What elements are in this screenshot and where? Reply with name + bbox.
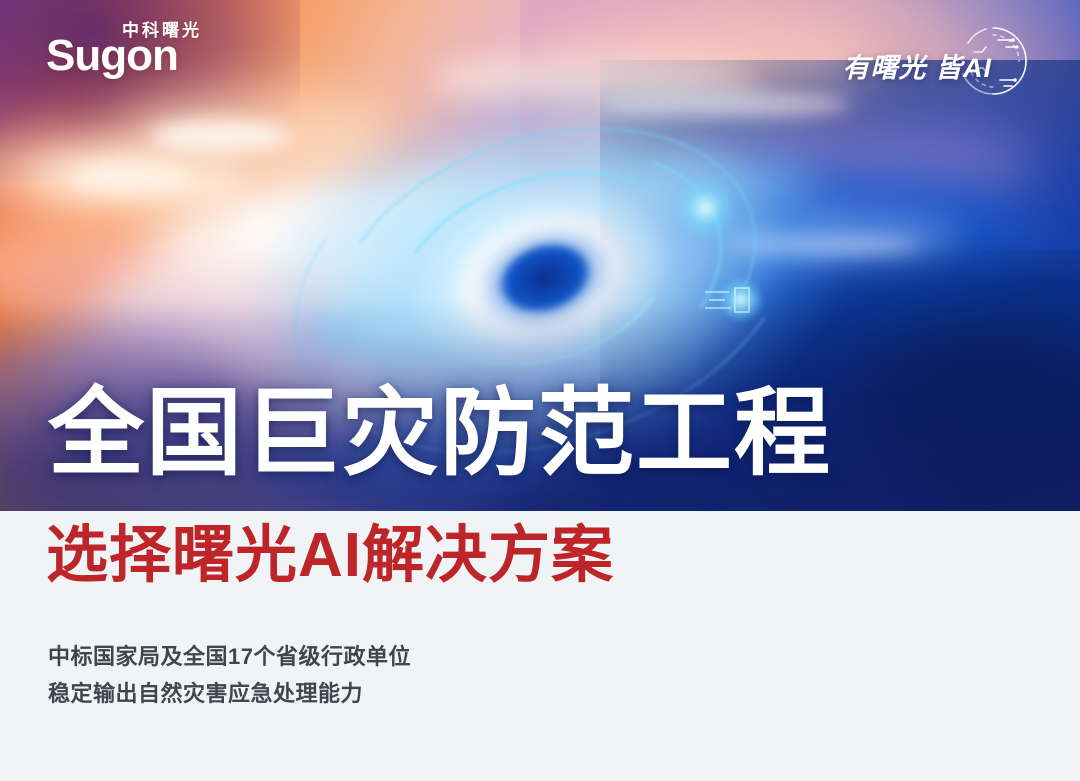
page-title: 全国巨灾防范工程 bbox=[48, 386, 832, 482]
body-line-2: 稳定输出自然灾害应急处理能力 bbox=[48, 675, 411, 712]
hero-image: 中科曙光 Sugon bbox=[0, 0, 1080, 511]
body-text-block: 中标国家局及全国17个省级行政单位 稳定输出自然灾害应急处理能力 bbox=[48, 638, 411, 712]
poster-root: 中科曙光 Sugon bbox=[0, 0, 1080, 781]
sugon-logo[interactable]: 中科曙光 Sugon bbox=[46, 16, 206, 82]
bottom-panel: 选择曙光AI解决方案 中标国家局及全国17个省级行政单位 稳定输出自然灾害应急处… bbox=[0, 511, 1080, 781]
slogan-text: 有曙光 皆AI bbox=[842, 46, 992, 85]
page-subtitle: 选择曙光AI解决方案 bbox=[46, 525, 614, 587]
slogan-block: 有曙光 皆AI bbox=[814, 20, 1044, 106]
logo-english-wordmark: Sugon bbox=[46, 34, 178, 78]
body-line-1: 中标国家局及全国17个省级行政单位 bbox=[48, 638, 411, 675]
